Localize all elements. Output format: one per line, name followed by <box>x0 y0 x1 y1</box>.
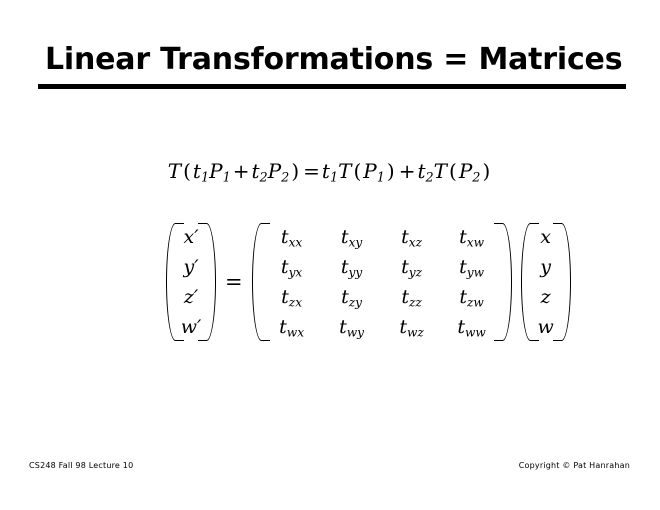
transform-matrix-cell-4-1: twx <box>262 312 322 342</box>
linearity-rhs-t1: t <box>322 159 330 183</box>
left-vector-symbol: x <box>183 226 194 248</box>
right-vector-symbol: x <box>540 226 551 248</box>
linearity-lhs-P1: P <box>209 159 222 183</box>
transform-matrix-cell-3-4: tzw <box>442 282 502 312</box>
transform-matrix-cell-subscript: zw <box>467 295 484 309</box>
transform-matrix-cell-base: t <box>279 316 287 338</box>
linearity-lhs-close-paren: ) <box>289 159 301 183</box>
transform-matrix-cell-3-1: tzx <box>262 282 322 312</box>
slide-canvas: Linear Transformations = Matrices T(t1P1… <box>0 0 660 510</box>
transform-matrix-cell-subscript: xy <box>349 235 363 249</box>
transform-matrix-cell-subscript: zx <box>289 295 302 309</box>
transform-matrix-cell-base: t <box>339 316 347 338</box>
transform-matrix-cell-subscript: yw <box>467 265 484 279</box>
transform-matrix-cell-4-3: twz <box>382 312 442 342</box>
transform-matrix-cell-base: t <box>401 256 409 278</box>
transform-matrix-cell-base: t <box>457 316 465 338</box>
transform-matrix-cell-2-2: tyy <box>322 252 382 282</box>
linearity-lhs-P2: P <box>268 159 281 183</box>
right-vector-symbol: y <box>540 256 551 278</box>
transform-matrix-cell-base: t <box>281 286 289 308</box>
transform-matrix-cell-base: t <box>399 316 407 338</box>
transform-matrix-cell-subscript: wy <box>347 325 364 339</box>
transform-matrix-cell-subscript: yz <box>409 265 422 279</box>
transform-matrix-cell-1-4: txw <box>442 222 502 252</box>
left-vector-open-paren <box>163 222 176 342</box>
left-vector-close-paren <box>206 222 219 342</box>
transform-matrix-cell-subscript: wx <box>287 325 304 339</box>
transform-matrix-cell-subscript: wz <box>407 325 424 339</box>
transform-matrix-cell-2-3: tyz <box>382 252 442 282</box>
matrix-equals-sign: = <box>219 270 249 294</box>
transform-matrix-row: twxtwytwztww <box>262 312 502 342</box>
linearity-rhs-P2: P <box>459 159 472 183</box>
transform-matrix-cell-subscript: xx <box>289 235 303 249</box>
left-vector-symbol: y <box>183 256 194 278</box>
footer-copyright-label: Copyright © Pat Hanrahan <box>519 460 630 471</box>
transform-matrix-cell-base: t <box>281 256 289 278</box>
transform-matrix-cell-subscript: xz <box>409 235 422 249</box>
transform-matrix-cell-4-2: twy <box>322 312 382 342</box>
linearity-lhs-P1-subscript: 1 <box>223 171 231 186</box>
right-vector-close-paren <box>561 222 574 342</box>
transform-matrix-cell-subscript: yx <box>289 265 303 279</box>
linearity-rhs-open-paren-1: ( <box>351 159 363 183</box>
linearity-rhs-close-paren-2: ) <box>480 159 492 183</box>
linearity-rhs-open-paren-2: ( <box>447 159 459 183</box>
transform-matrix-cell-subscript: zz <box>409 295 422 309</box>
transform-matrix: txxtxytxztxwtyxtyytyztywtzxtzytzztzwtwxt… <box>262 222 502 342</box>
right-vector-open-paren <box>518 222 531 342</box>
transform-matrix-cell-2-4: tyw <box>442 252 502 282</box>
linearity-lhs-t2: t <box>251 159 259 183</box>
linearity-rhs-T1: T <box>338 159 351 183</box>
transform-matrix-cell-2-1: tyx <box>262 252 322 282</box>
linearity-lhs-t2-subscript: 2 <box>260 171 268 186</box>
transform-matrix-cell-base: t <box>459 256 467 278</box>
transform-matrix-cell-3-2: tzy <box>322 282 382 312</box>
transform-matrix-row: tzxtzytzztzw <box>262 282 502 312</box>
transform-matrix-cell-subscript: zy <box>349 295 362 309</box>
transform-matrix-cell-subscript: yy <box>349 265 363 279</box>
footer-course-label: CS248 Fall 98 Lecture 10 <box>29 460 133 471</box>
transform-matrix-open-paren <box>249 222 262 342</box>
matrix-equation: x′y′z′w′ = txxtxytxztxwtyxtyytyztywtzxtz… <box>163 222 574 342</box>
page-title: Linear Transformations = Matrices <box>45 42 625 78</box>
transform-matrix-row: txxtxytxztxw <box>262 222 502 252</box>
linearity-rhs-t2-subscript: 2 <box>426 171 434 186</box>
transform-matrix-cell-base: t <box>281 226 289 248</box>
transform-matrix-cell-1-3: txz <box>382 222 442 252</box>
transform-matrix-cell-base: t <box>459 286 467 308</box>
right-vector-symbol: w <box>537 316 553 338</box>
linearity-rhs-t2: t <box>417 159 425 183</box>
transform-matrix-cell-base: t <box>341 286 349 308</box>
linearity-equals-sign: = <box>301 159 322 183</box>
transform-matrix-cell-base: t <box>401 286 409 308</box>
linearity-rhs-P1-subscript: 1 <box>377 171 385 186</box>
transform-matrix-cell-base: t <box>341 256 349 278</box>
linearity-rhs-t1-subscript: 1 <box>330 171 338 186</box>
linearity-equation: T(t1P1+t2P2)=t1T(P1)+t2T(P2) <box>0 158 660 184</box>
title-underline-rule <box>38 84 626 89</box>
linearity-lhs-t1-subscript: 1 <box>201 171 209 186</box>
transform-matrix-cell-1-2: txy <box>322 222 382 252</box>
transform-matrix-cell-3-3: tzz <box>382 282 442 312</box>
linearity-lhs-T: T <box>168 159 181 183</box>
linearity-rhs-plus: + <box>397 159 418 183</box>
left-vector-symbol: z <box>184 286 194 308</box>
right-vector-symbol: z <box>541 286 551 308</box>
transform-matrix-cell-1-1: txx <box>262 222 322 252</box>
linearity-lhs-open-paren: ( <box>181 159 193 183</box>
transform-matrix-cell-base: t <box>459 226 467 248</box>
linearity-rhs-T2: T <box>434 159 447 183</box>
transform-matrix-cell-base: t <box>401 226 409 248</box>
transform-matrix-close-paren <box>502 222 515 342</box>
transform-matrix-cell-subscript: xw <box>467 235 484 249</box>
linearity-rhs-close-paren-1: ) <box>385 159 397 183</box>
transform-matrix-cell-base: t <box>341 226 349 248</box>
linearity-rhs-P1: P <box>363 159 376 183</box>
transform-matrix-cell-4-4: tww <box>442 312 502 342</box>
transform-matrix-row: tyxtyytyztyw <box>262 252 502 282</box>
linearity-lhs-plus: + <box>231 159 252 183</box>
linearity-lhs-t1: t <box>193 159 201 183</box>
transform-matrix-cell-subscript: ww <box>465 325 486 339</box>
